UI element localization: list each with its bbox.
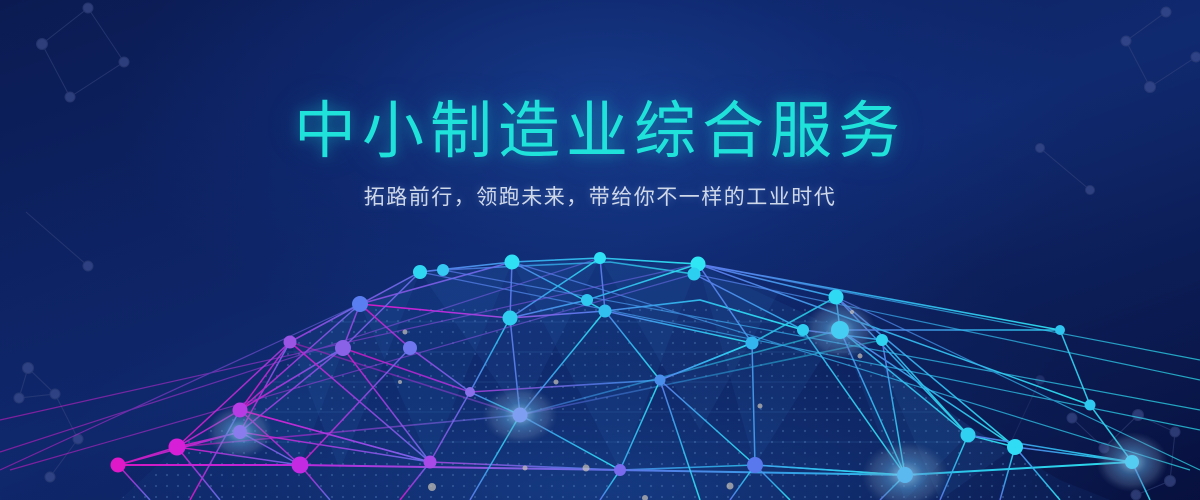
node-layer <box>0 0 1200 500</box>
hero-banner: 中小制造业综合服务 拓路前行，领跑未来，带给你不一样的工业时代 <box>0 0 1200 500</box>
